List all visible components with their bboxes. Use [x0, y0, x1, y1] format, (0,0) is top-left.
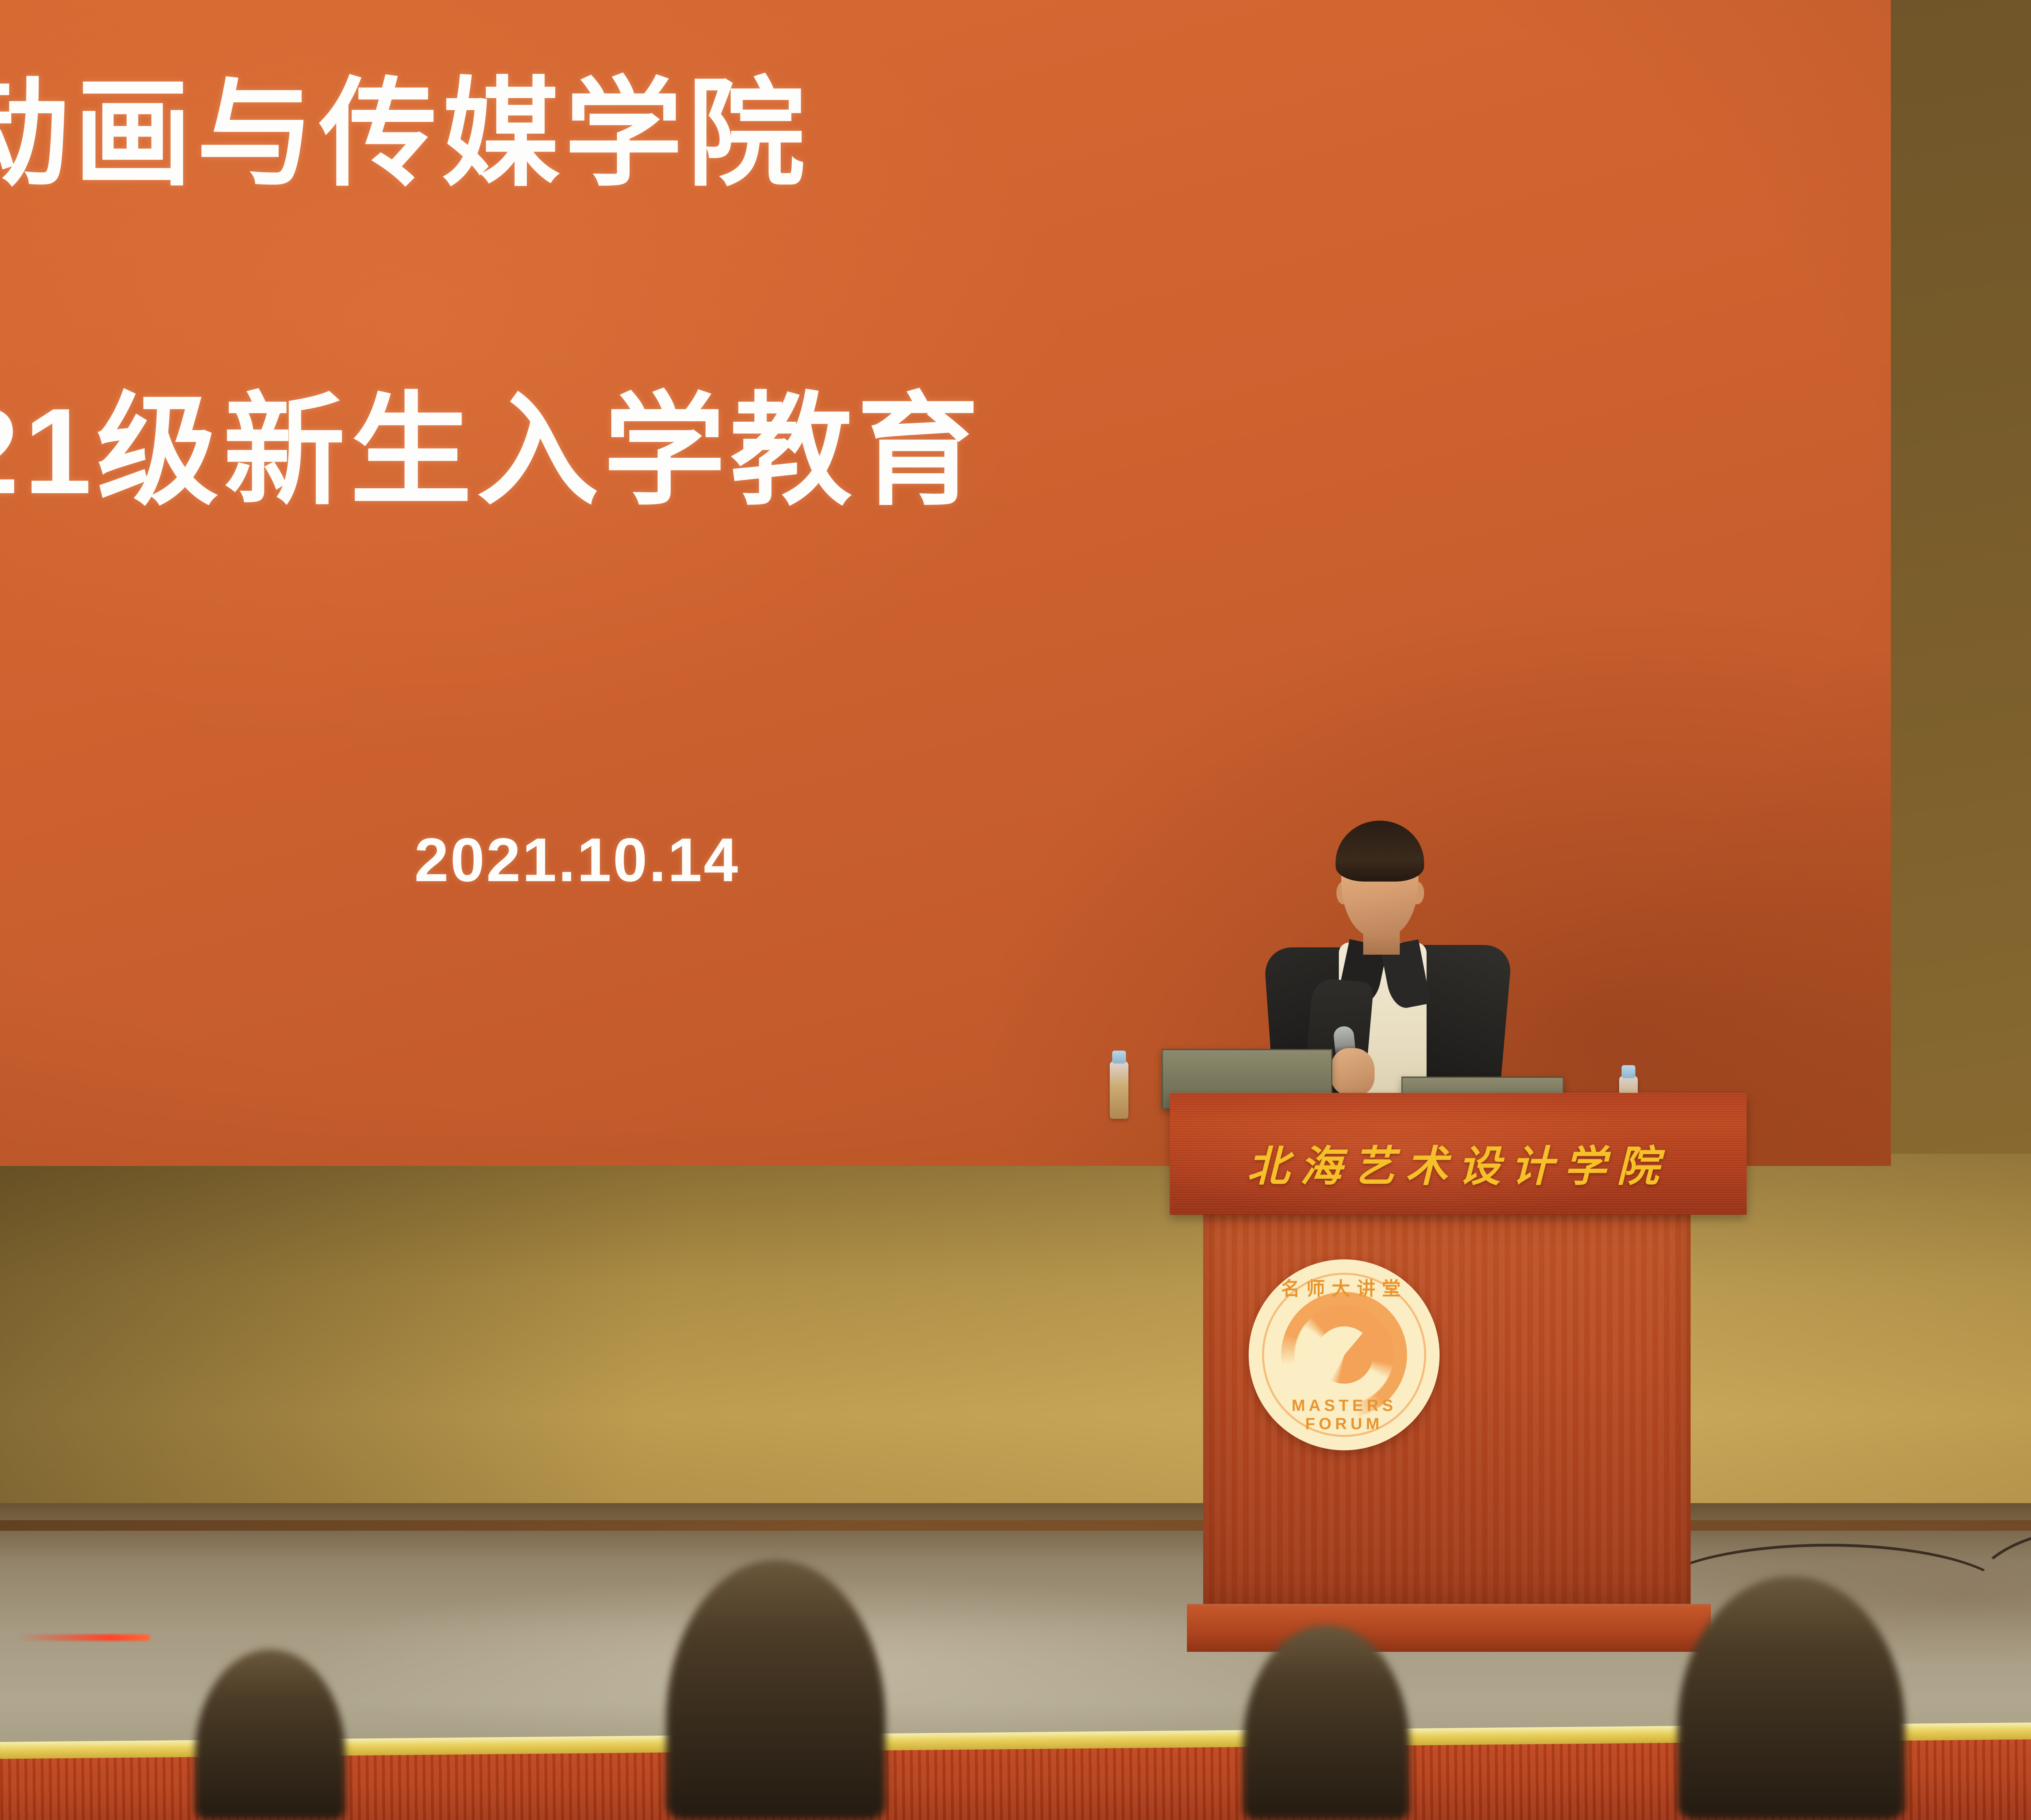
projection-screen: 动画与传媒学院 21级新生入学教育 2021.10.14 [0, 0, 1891, 1166]
podium-banner: 北海艺术设计学院 [1170, 1093, 1747, 1215]
water-bottle-left [1110, 1061, 1128, 1119]
hand [1331, 1048, 1375, 1095]
back-wall-right [1869, 0, 2031, 1227]
masters-forum-emblem: 名师大讲堂 MASTERS FORUM [1249, 1259, 1440, 1450]
podium-banner-text: 北海艺术设计学院 [1170, 1132, 1747, 1193]
spiral-swirl-inner-icon [1316, 1326, 1373, 1384]
bottle-cap-icon [1622, 1065, 1635, 1078]
hair [1336, 821, 1424, 882]
podium: 名师大讲堂 MASTERS FORUM 北海艺术设计学院 [1158, 1093, 1759, 1653]
laser-pointer-mark [16, 1634, 150, 1641]
emblem-english-label: MASTERS FORUM [1249, 1397, 1440, 1433]
auditorium-scene: 动画与传媒学院 21级新生入学教育 2021.10.14 [0, 0, 2031, 1820]
emblem-chinese-label: 名师大讲堂 [1249, 1274, 1440, 1301]
bottle-cap-icon [1112, 1051, 1126, 1064]
podium-base [1187, 1604, 1711, 1652]
screen-vignette [0, 0, 1891, 1166]
